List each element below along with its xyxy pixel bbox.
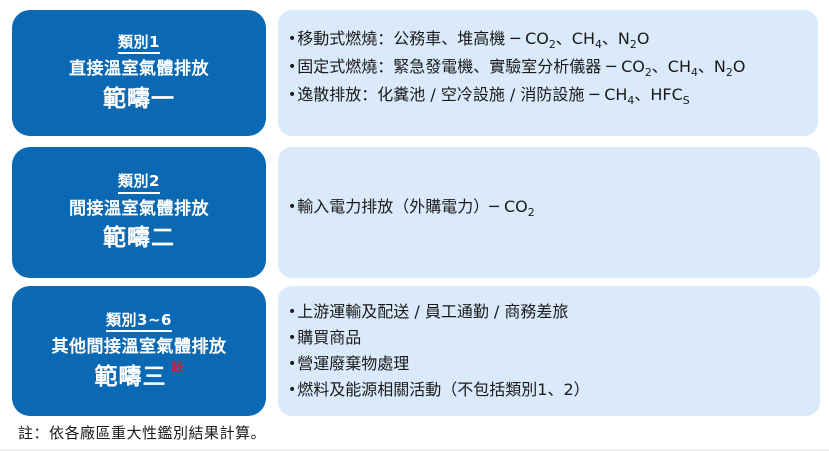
- scope-name-wrap-1: 範疇一: [103, 85, 175, 114]
- scope-category-1: 類別1: [118, 33, 160, 55]
- scope-category-3: 類別3~6: [106, 311, 172, 333]
- bullet-item: 購買商品: [288, 325, 804, 351]
- bullet-item: 固定式燃燒：緊急發電機、實驗室分析儀器 ─ CO2、CH4、N2O: [288, 54, 802, 82]
- scope-content-panel-2: 輸入電力排放（外購電力）─ CO2: [278, 147, 820, 278]
- scope-name-1: 範疇一: [103, 86, 175, 112]
- scope-name-wrap-2: 範疇二: [103, 224, 175, 253]
- footnote-text: 註：依各廠區重大性鑑別結果計算。: [18, 422, 266, 443]
- bullet-item: 逸散排放：化糞池 / 空冷設施 / 消防設施 ─ CH4、HFCS: [288, 82, 802, 110]
- scope-description-1: 直接溫室氣體排放: [69, 59, 209, 80]
- scope-label-box-2: 類別2 間接溫室氣體排放 範疇二: [12, 147, 266, 278]
- scope-row-3: 類別3~6 其他間接溫室氣體排放 範疇三 註 上游運輸及配送 / 員工通勤 / …: [0, 286, 829, 416]
- note-marker-3: 註: [172, 360, 184, 374]
- scope-name-wrap-3: 範疇三 註: [94, 363, 183, 392]
- bullet-item: 燃料及能源相關活動（不包括類別1、2）: [288, 377, 804, 403]
- scope-label-box-3: 類別3~6 其他間接溫室氣體排放 範疇三 註: [12, 286, 266, 416]
- bullet-item: 移動式燃燒：公務車、堆高機 ─ CO2、CH4、N2O: [288, 26, 802, 54]
- scope-row-2: 類別2 間接溫室氣體排放 範疇二 輸入電力排放（外購電力）─ CO2: [0, 147, 829, 278]
- bullet-item: 上游運輸及配送 / 員工通勤 / 商務差旅: [288, 299, 804, 325]
- bullet-item: 營運廢棄物處理: [288, 351, 804, 377]
- ghg-scope-diagram: 類別1 直接溫室氣體排放 範疇一 移動式燃燒：公務車、堆高機 ─ CO2、CH4…: [0, 0, 829, 451]
- scope-row-1: 類別1 直接溫室氣體排放 範疇一 移動式燃燒：公務車、堆高機 ─ CO2、CH4…: [0, 10, 829, 136]
- scope-content-panel-3: 上游運輸及配送 / 員工通勤 / 商務差旅購買商品營運廢棄物處理燃料及能源相關活…: [278, 286, 820, 416]
- scope-name-2: 範疇二: [103, 225, 175, 251]
- scope-content-panel-1: 移動式燃燒：公務車、堆高機 ─ CO2、CH4、N2O固定式燃燒：緊急發電機、實…: [278, 10, 818, 136]
- scope-label-box-1: 類別1 直接溫室氣體排放 範疇一: [12, 10, 266, 136]
- bullet-item: 輸入電力排放（外購電力）─ CO2: [288, 194, 804, 222]
- scope-description-2: 間接溫室氣體排放: [69, 199, 209, 220]
- scope-category-2: 類別2: [118, 172, 160, 194]
- scope-description-3: 其他間接溫室氣體排放: [52, 337, 227, 358]
- scope-name-3: 範疇三: [94, 364, 166, 390]
